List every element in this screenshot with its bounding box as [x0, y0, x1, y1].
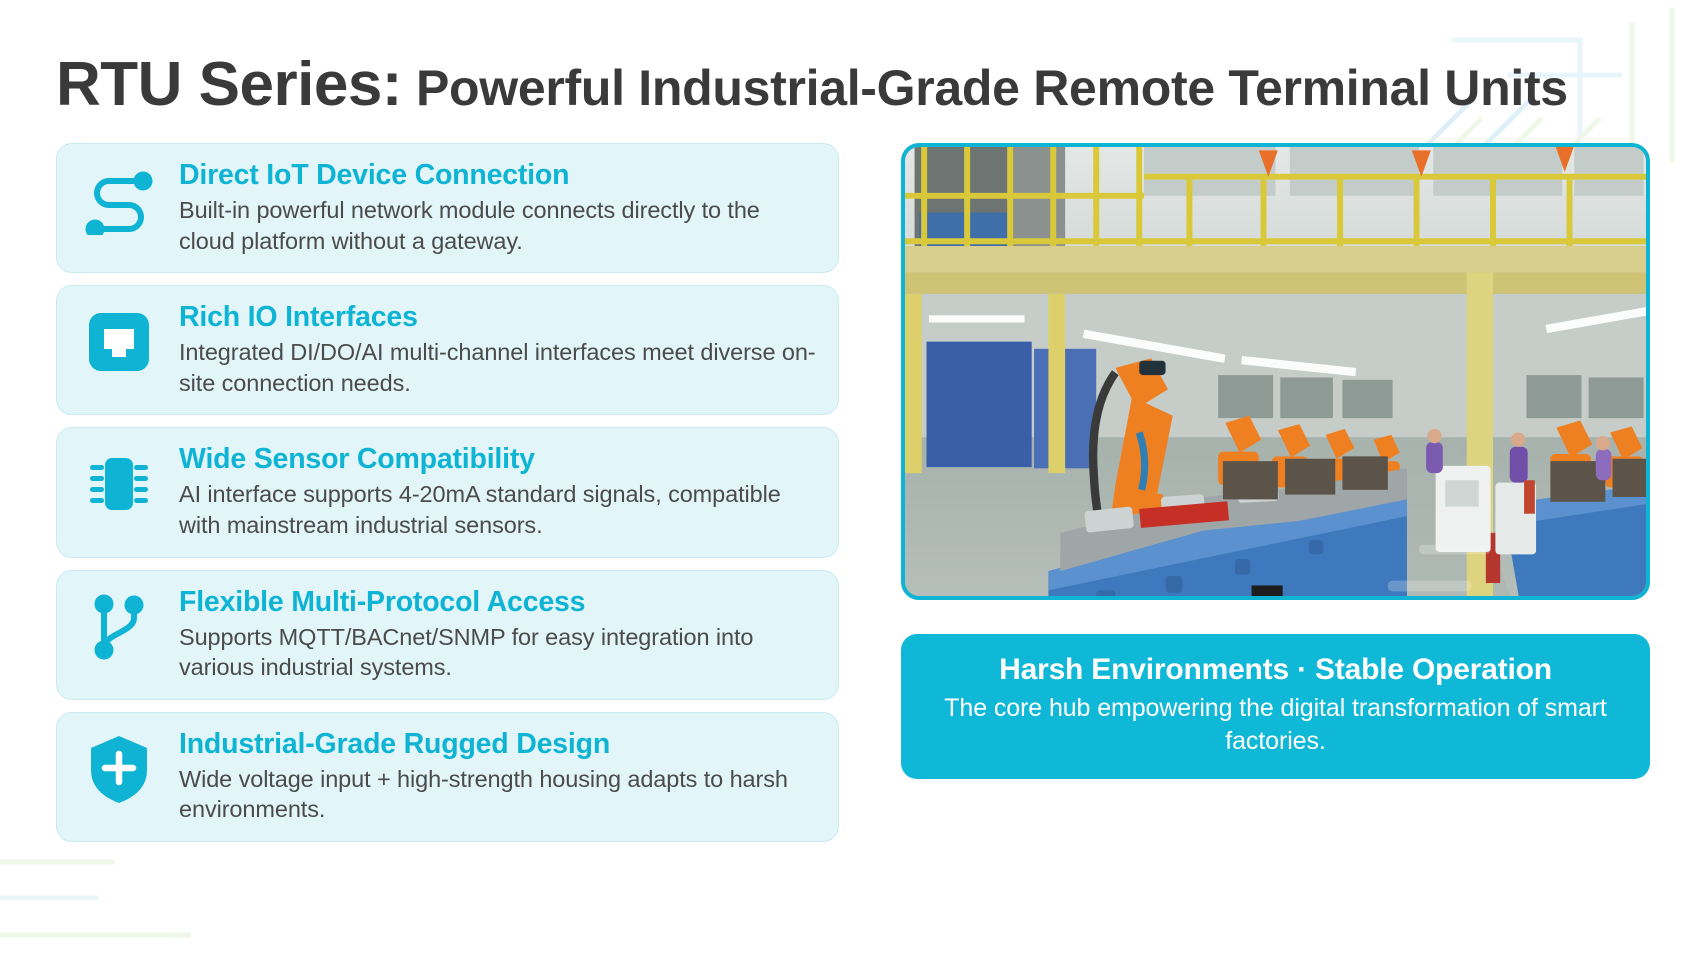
banner-subtitle: The core hub empowering the digital tran… — [927, 692, 1624, 757]
right-column: Harsh Environments · Stable Operation Th… — [901, 143, 1650, 779]
feature-title: Wide Sensor Compatibility — [179, 443, 818, 476]
feature-card-direct-iot-device-connection[interactable]: Direct IoT Device Connection Built-in po… — [56, 143, 839, 273]
branch-protocol-icon — [75, 585, 163, 669]
page-title-rest: Powerful Industrial-Grade Remote Termina… — [402, 62, 1568, 115]
feature-description: Wide voltage input + high-strength housi… — [179, 764, 818, 825]
highlight-banner: Harsh Environments · Stable Operation Th… — [901, 634, 1650, 779]
shield-plus-icon — [75, 727, 163, 811]
chip-sensor-icon — [75, 442, 163, 526]
factory-photo — [901, 143, 1650, 600]
feature-card-flexible-multi-protocol-access[interactable]: Flexible Multi-Protocol Access Supports … — [56, 570, 839, 700]
feature-title: Flexible Multi-Protocol Access — [179, 586, 818, 619]
s-route-connection-icon — [75, 158, 163, 242]
feature-title: Industrial-Grade Rugged Design — [179, 728, 818, 761]
slide-root: RTU Series: Powerful Industrial-Grade Re… — [0, 0, 1706, 960]
feature-text: Wide Sensor Compatibility AI interface s… — [179, 442, 818, 540]
feature-card-rich-io-interfaces[interactable]: Rich IO Interfaces Integrated DI/DO/AI m… — [56, 285, 839, 415]
feature-title: Rich IO Interfaces — [179, 301, 818, 334]
feature-title: Direct IoT Device Connection — [179, 159, 818, 192]
banner-title: Harsh Environments · Stable Operation — [927, 652, 1624, 688]
feature-description: AI interface supports 4-20mA standard si… — [179, 479, 818, 540]
feature-text: Industrial-Grade Rugged Design Wide volt… — [179, 727, 818, 825]
feature-text: Flexible Multi-Protocol Access Supports … — [179, 585, 818, 683]
content-area: Direct IoT Device Connection Built-in po… — [56, 143, 1650, 842]
page-title: RTU Series: Powerful Industrial-Grade Re… — [56, 52, 1650, 117]
feature-list: Direct IoT Device Connection Built-in po… — [56, 143, 839, 842]
feature-card-wide-sensor-compatibility[interactable]: Wide Sensor Compatibility AI interface s… — [56, 427, 839, 557]
feature-text: Rich IO Interfaces Integrated DI/DO/AI m… — [179, 300, 818, 398]
page-title-strong: RTU Series: — [56, 52, 402, 117]
ethernet-port-icon — [75, 300, 163, 384]
feature-text: Direct IoT Device Connection Built-in po… — [179, 158, 818, 256]
feature-description: Built-in powerful network module connect… — [179, 195, 818, 256]
feature-card-industrial-grade-rugged-design[interactable]: Industrial-Grade Rugged Design Wide volt… — [56, 712, 839, 842]
feature-description: Supports MQTT/BACnet/SNMP for easy integ… — [179, 622, 818, 683]
feature-description: Integrated DI/DO/AI multi-channel interf… — [179, 337, 818, 398]
